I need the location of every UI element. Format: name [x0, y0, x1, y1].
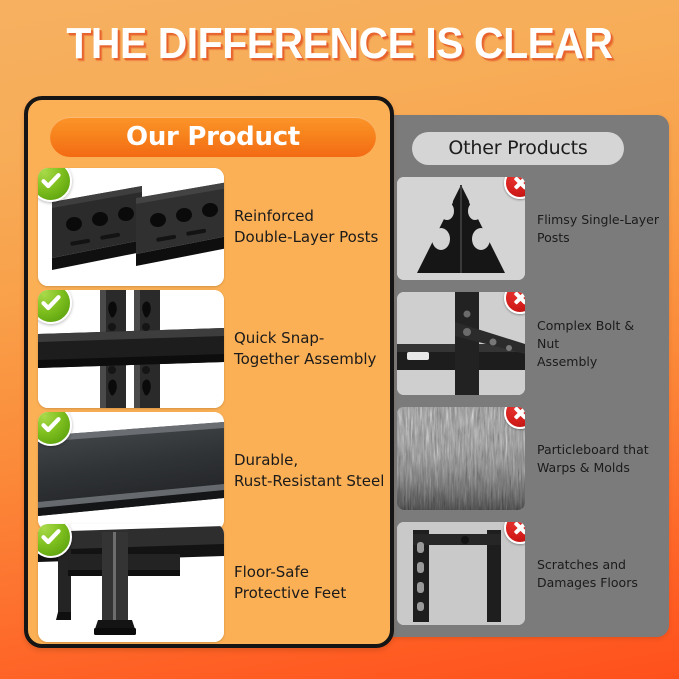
other-feature-row: Flimsy Single-Layer Posts — [397, 177, 655, 280]
our-feature-label: Quick Snap- Together Assembly — [234, 328, 390, 370]
our-feature-row: Floor-Safe Protective Feet — [38, 524, 388, 642]
our-feature-row: Reinforced Double-Layer Posts — [38, 168, 388, 286]
single-layer-post-photo — [397, 177, 525, 280]
other-products-panel: Other Products — [383, 115, 669, 637]
other-feature-row: Particleboard that Warps & Molds — [397, 407, 655, 510]
other-feature-label: Complex Bolt & Nut Assembly — [537, 317, 659, 371]
our-feature-label: Floor-Safe Protective Feet — [234, 562, 390, 604]
our-feature-label: Reinforced Double-Layer Posts — [234, 206, 390, 248]
other-feature-row: Scratches and Damages Floors — [397, 522, 655, 625]
our-feature-row: Durable, Rust-Resistant Steel — [38, 412, 388, 530]
protective-feet-photo — [38, 524, 224, 642]
other-feature-label: Flimsy Single-Layer Posts — [537, 211, 659, 247]
our-product-badge: Our Product — [50, 117, 376, 157]
other-products-badge: Other Products — [412, 132, 624, 165]
other-feature-row: Complex Bolt & Nut Assembly — [397, 292, 655, 395]
rust-resistant-steel-shelf-photo — [38, 412, 224, 530]
bare-metal-leg-photo — [397, 522, 525, 625]
comparison-infographic: THE DIFFERENCE IS CLEAR Other Products — [0, 0, 679, 679]
snap-together-joint-photo — [38, 290, 224, 408]
our-feature-label: Durable, Rust-Resistant Steel — [234, 450, 390, 492]
other-feature-label: Scratches and Damages Floors — [537, 556, 659, 592]
page-title: THE DIFFERENCE IS CLEAR — [24, 18, 655, 70]
our-feature-row: Quick Snap- Together Assembly — [38, 290, 388, 408]
particleboard-texture-photo — [397, 407, 525, 510]
double-layer-steel-posts-photo — [38, 168, 224, 286]
bolt-and-nut-assembly-photo — [397, 292, 525, 395]
other-feature-label: Particleboard that Warps & Molds — [537, 441, 659, 477]
our-product-panel: Our Product — [24, 96, 394, 648]
